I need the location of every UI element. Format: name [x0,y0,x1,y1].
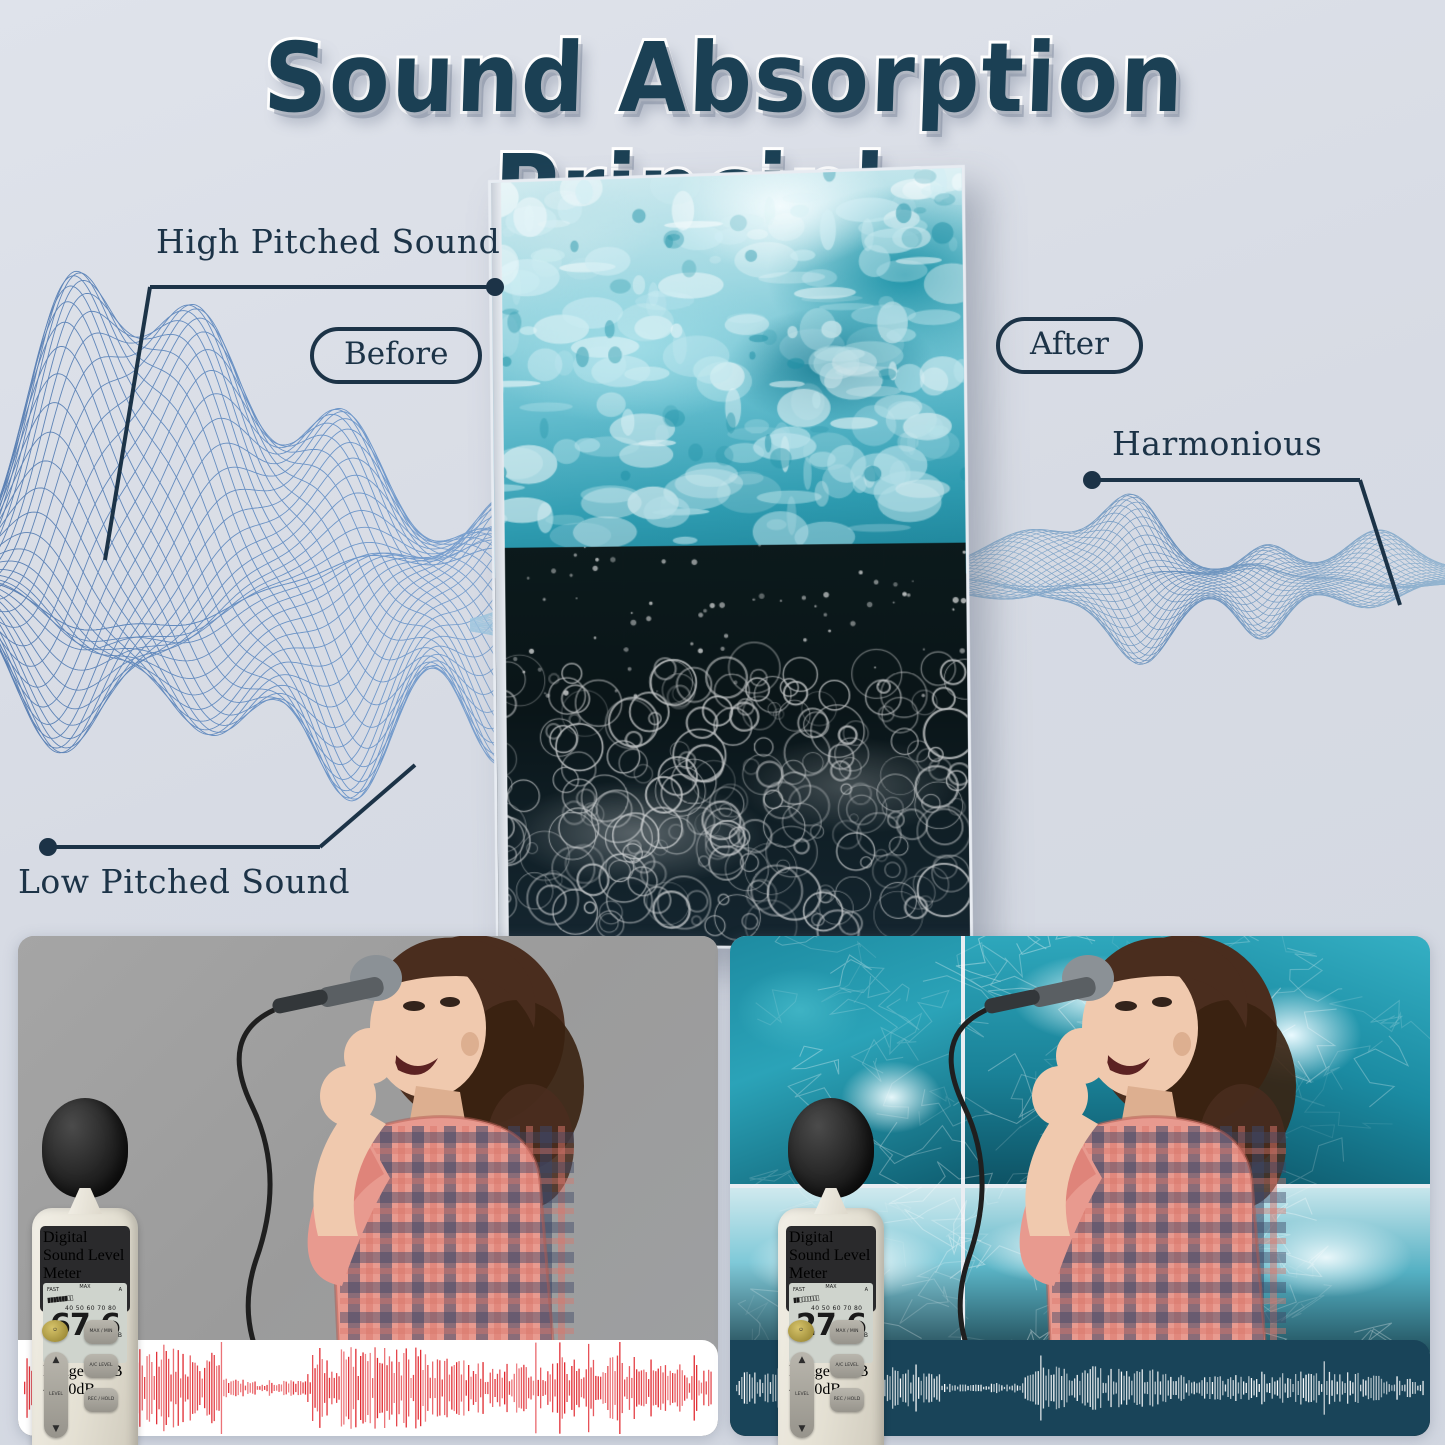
badge-after[interactable]: After [996,317,1143,374]
lcd-max-label: MAX [825,1284,836,1290]
a-c-weighting-button[interactable]: A/C LEVEL [84,1354,118,1378]
sound-level-meter-after[interactable]: Digital Sound Level Meter FAST MAX A ▮▮▯… [778,1098,884,1445]
meter-body: Digital Sound Level Meter FAST MAX A ▮▮▮… [32,1208,138,1445]
leader-line-harmonious [1080,455,1410,635]
a-c-weighting-button[interactable]: A/C LEVEL [830,1354,864,1378]
lcd-bargraph: ▮▮▮▮▮▮▮▯▯ [47,1294,73,1305]
meter-button-pad: ⏻ MAX / MIN ▲ LEVEL ▼ A/C LEVEL REC / HO… [38,1320,132,1445]
panel-top-foam-texture [491,168,966,548]
level-up-icon[interactable]: ▲ [53,1356,60,1365]
max-min-button[interactable]: MAX / MIN [84,1320,118,1344]
rec-hold-button[interactable]: REC / HOLD [830,1388,864,1412]
level-button[interactable]: ▲ LEVEL ▼ [44,1352,68,1438]
level-label: LEVEL [795,1392,809,1397]
max-min-button[interactable]: MAX / MIN [830,1320,864,1344]
infographic-canvas: Sound Absorption Principle [0,0,1445,1445]
level-up-icon[interactable]: ▲ [799,1356,806,1365]
lcd-bargraph: ▮▮▯▯▯▯▯▯▯ [793,1294,819,1305]
meter-lcd-frame: Digital Sound Level Meter FAST MAX A ▮▮▯… [786,1226,876,1312]
lcd-weighting: A [119,1287,122,1293]
lcd-mode-left: FAST [793,1287,805,1293]
meter-lcd-frame: Digital Sound Level Meter FAST MAX A ▮▮▮… [40,1226,130,1312]
microphone-windscreen-icon [42,1098,128,1198]
meter-button-pad: ⏻ MAX / MIN ▲ LEVEL ▼ A/C LEVEL REC / HO… [784,1320,878,1445]
panel-top-section [491,168,966,578]
power-button[interactable]: ⏻ [788,1320,814,1342]
level-label: LEVEL [49,1392,63,1397]
sound-level-meter-before[interactable]: Digital Sound Level Meter FAST MAX A ▮▮▮… [32,1098,138,1445]
meter-brand-label: Digital Sound Level Meter [789,1229,873,1283]
panel-bottom-section [495,542,970,948]
panel-bottom-foam-texture [495,542,970,948]
microphone-windscreen-icon [788,1098,874,1198]
level-button[interactable]: ▲ LEVEL ▼ [790,1352,814,1438]
lcd-mode-left: FAST [47,1287,59,1293]
rec-hold-button[interactable]: REC / HOLD [84,1388,118,1412]
meter-body: Digital Sound Level Meter FAST MAX A ▮▮▯… [778,1208,884,1445]
leader-line-high-pitched [100,265,520,565]
meter-brand-label: Digital Sound Level Meter [43,1229,127,1283]
level-down-icon[interactable]: ▼ [799,1425,806,1434]
level-down-icon[interactable]: ▼ [53,1425,60,1434]
lcd-max-label: MAX [79,1284,90,1290]
label-high-pitched-sound: High Pitched Sound [156,222,500,261]
lcd-weighting: A [865,1287,868,1293]
acoustic-art-panel [488,165,973,951]
badge-before[interactable]: Before [310,327,482,384]
power-button[interactable]: ⏻ [42,1320,68,1342]
